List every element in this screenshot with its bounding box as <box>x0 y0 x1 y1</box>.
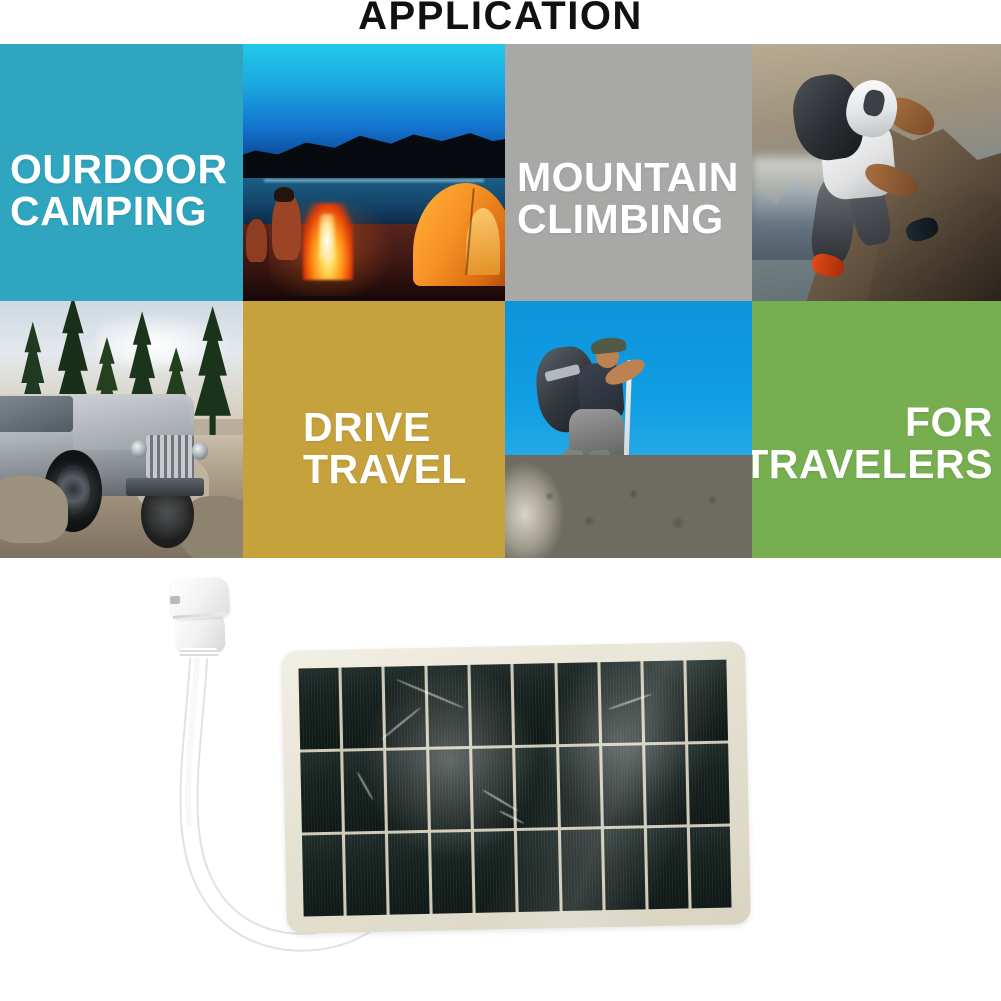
jeep-pine-tree <box>158 347 194 440</box>
cell-label-line2: CAMPING <box>10 190 228 232</box>
hiker-leg-back <box>556 449 586 508</box>
hiker-arm <box>602 354 648 389</box>
campfire-person-head <box>274 187 294 202</box>
climber-helmet <box>841 75 901 141</box>
campfire-lake <box>243 178 505 235</box>
solar-cell <box>431 832 473 913</box>
hiker-rock-outcrop <box>505 455 752 558</box>
solar-cell <box>647 828 689 909</box>
cell-label-for-travelers: FOR TRAVELERS <box>752 401 993 485</box>
grid-cell-mountain-climbing: MOUNTAIN CLIMBING <box>505 44 752 301</box>
solar-cell <box>300 751 342 832</box>
cell-label-line2: CLIMBING <box>517 198 739 240</box>
hiker-head <box>596 345 618 368</box>
campfire-flames <box>303 203 353 280</box>
solar-cell <box>388 833 430 914</box>
usb-strain-relief <box>179 648 219 658</box>
hiker-torso <box>577 361 625 420</box>
solar-cell <box>561 830 603 911</box>
climber-arm-upper <box>880 90 941 142</box>
campfire-ground <box>243 224 505 301</box>
jeep-body <box>0 394 194 497</box>
hiker-cap <box>591 336 627 355</box>
hiker-backpack-strap <box>544 364 580 382</box>
climber-rock-ridge <box>802 121 1001 301</box>
climber-shoe-front <box>904 214 941 244</box>
jeep-headlight <box>192 442 208 460</box>
cell-label-line1: DRIVE <box>303 406 467 448</box>
jeep-sky <box>0 301 243 419</box>
photo-offroad-jeep <box>0 301 243 558</box>
hiker-backpack <box>533 344 601 435</box>
cell-label-line1: OURDOOR <box>10 148 228 190</box>
page-title-band: APPLICATION <box>0 0 1001 44</box>
jeep-pine-tree <box>187 306 238 440</box>
climber-backpack <box>789 71 867 164</box>
campfire-person-adult <box>272 193 301 260</box>
grid-cell-outdoor-camping: OURDOOR CAMPING <box>0 44 243 301</box>
campfire-person-child <box>246 219 267 263</box>
jeep-pine-tree <box>12 322 53 440</box>
solar-cell <box>298 668 340 749</box>
jeep-grille <box>146 435 195 479</box>
jeep-boulder <box>180 496 243 558</box>
climber-helmet-vent <box>862 88 887 117</box>
jeep-clouds <box>97 311 238 368</box>
jeep-rocky-ground <box>0 435 243 558</box>
campfire-sky <box>243 44 505 167</box>
solar-cell <box>643 660 685 741</box>
hiker-boot-back <box>544 497 572 513</box>
solar-cell <box>345 834 387 915</box>
climber-leg-back <box>808 175 860 267</box>
solar-cell <box>342 667 384 748</box>
solar-cell <box>559 746 601 827</box>
solar-cell <box>429 749 471 830</box>
solar-cell <box>474 831 516 912</box>
photo-mountain-climber <box>752 44 1001 301</box>
campfire-tent-door <box>466 208 500 275</box>
solar-cell <box>516 747 558 828</box>
hiker-rock-texture <box>505 455 752 558</box>
climber-cloud-haze <box>752 157 906 224</box>
solar-cell <box>688 743 730 824</box>
climber-shoe-back <box>810 251 846 279</box>
jeep-window <box>0 396 73 432</box>
solar-cell <box>690 827 732 908</box>
jeep-tire-rear <box>141 481 194 548</box>
jeep-boulder <box>0 476 68 543</box>
solar-cell <box>686 660 728 741</box>
application-grid: OURDOOR CAMPING MOUNTAIN CLIMBING <box>0 44 1001 558</box>
solar-panel-cell-grid <box>298 660 731 917</box>
jeep-pine-tree <box>87 337 126 440</box>
solar-cell <box>514 663 556 744</box>
jeep-tire-front <box>44 450 102 532</box>
hiker-boot-front <box>588 487 616 503</box>
solar-cell <box>602 745 644 826</box>
solar-cell <box>517 830 559 911</box>
climber-rock-foreground <box>867 173 1001 302</box>
campfire-tent-seam <box>465 188 475 275</box>
campfire-flame-core <box>319 214 335 260</box>
cell-label-drive-travel: DRIVE TRAVEL <box>303 406 467 490</box>
solar-cell <box>302 835 344 916</box>
climber-sky <box>752 44 1001 301</box>
solar-cell <box>385 666 427 747</box>
hiker-leg-front <box>588 449 616 498</box>
jeep-wheel-rim <box>56 465 90 514</box>
solar-cell <box>604 829 646 910</box>
page-title: APPLICATION <box>358 0 643 36</box>
campfire-tent <box>413 183 505 286</box>
campfire-firelight-glow <box>269 193 395 296</box>
grid-cell-drive-travel: DRIVE TRAVEL <box>243 301 505 558</box>
campfire-mountain-silhouette <box>243 121 505 188</box>
jeep-boulder <box>136 455 209 512</box>
jeep-bumper <box>126 478 204 496</box>
usb-port-slot <box>170 596 180 605</box>
climber-arm-lower <box>861 158 921 202</box>
jeep-headlight <box>131 440 147 458</box>
photo-campfire-lakeside-tent <box>243 44 505 301</box>
solar-cell <box>386 750 428 831</box>
cell-label-line1: FOR <box>752 401 993 443</box>
solar-cell <box>557 662 599 743</box>
cell-label-line1: MOUNTAIN <box>517 156 739 198</box>
campfire-lake-reflection <box>264 179 484 182</box>
cell-label-line2: TRAVEL <box>303 448 467 490</box>
solar-cell <box>473 748 515 829</box>
hiker-sky <box>505 301 752 558</box>
hiker-pants <box>569 409 623 476</box>
solar-cell <box>343 750 385 831</box>
climber-distant-peaks <box>752 142 926 260</box>
climber-shirt <box>818 118 897 201</box>
solar-cell <box>471 664 513 745</box>
solar-cell <box>600 661 642 742</box>
jeep-pine-tree <box>46 301 99 440</box>
jeep-pine-tree <box>119 311 165 440</box>
grid-cell-for-travelers: FOR TRAVELERS <box>752 301 1001 558</box>
solar-panel <box>281 641 751 934</box>
solar-cell <box>645 744 687 825</box>
climber-leg-front <box>844 170 893 248</box>
cell-label-line2: TRAVELERS <box>752 443 993 485</box>
hiker-trekking-pole <box>623 360 632 483</box>
usb-a-female-connector <box>169 578 231 656</box>
solar-cell <box>428 665 470 746</box>
cell-label-outdoor-camping: OURDOOR CAMPING <box>10 148 228 232</box>
photo-hiker-on-rocks <box>505 301 752 558</box>
cell-label-mountain-climbing: MOUNTAIN CLIMBING <box>517 156 739 240</box>
jeep-hood <box>73 399 190 450</box>
